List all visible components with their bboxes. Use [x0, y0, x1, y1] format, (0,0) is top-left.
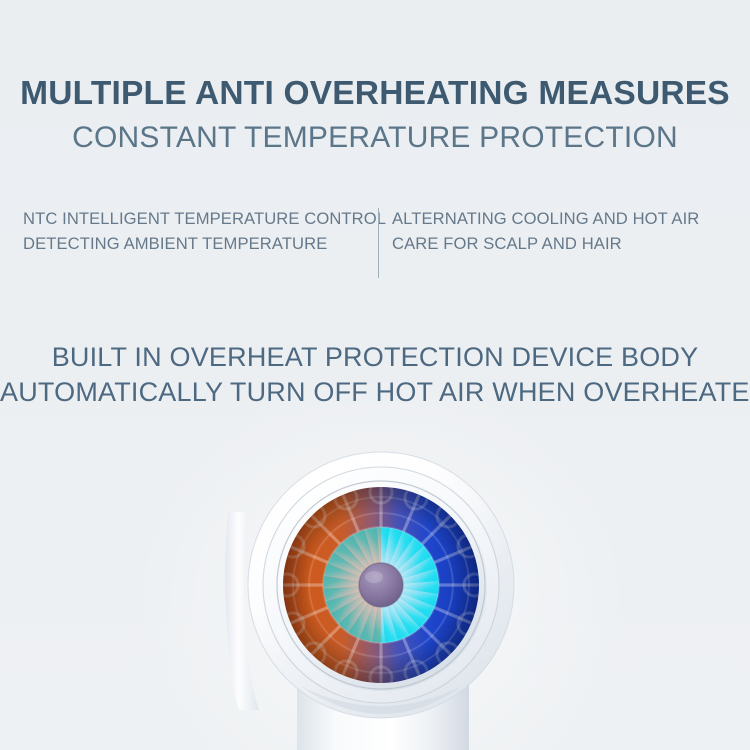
feature-right-line-2: CARE FOR SCALP AND HAIR	[392, 231, 699, 256]
fan-ring-88	[293, 497, 469, 673]
fan-blades-hot-wash	[310, 524, 381, 646]
fan-housing-sheen	[250, 454, 512, 716]
fan-blades	[310, 522, 452, 648]
fan-inner-lip	[275, 479, 487, 691]
feature-column-right: ALTERNATING COOLING AND HOT AIR CARE FOR…	[392, 206, 699, 256]
fan-spokes	[283, 487, 479, 683]
fan-hub	[359, 563, 403, 607]
feature-right-line-1: ALTERNATING COOLING AND HOT AIR	[392, 206, 699, 231]
feature-left-line-2: DETECTING AMBIENT TEMPERATURE	[23, 231, 386, 256]
fan-inner-edge	[323, 527, 439, 643]
feature-column-left: NTC INTELLIGENT TEMPERATURE CONTROL DETE…	[23, 206, 386, 256]
fan-inner-assembly	[310, 522, 452, 648]
feature-left-line-1: NTC INTELLIGENT TEMPERATURE CONTROL	[23, 206, 386, 231]
fan-inner-disc	[323, 527, 439, 643]
fan-ring-72	[309, 513, 453, 657]
fan-inner-lip-edge	[277, 481, 485, 689]
fan-rim-ring	[263, 467, 499, 703]
fan-hub-highlight	[365, 571, 383, 583]
headline-main: MULTIPLE ANTI OVERHEATING MEASURES	[0, 74, 750, 114]
feature-divider	[378, 208, 379, 278]
promo-page: MULTIPLE ANTI OVERHEATING MEASURES CONST…	[0, 0, 750, 750]
dryer-neck	[297, 672, 469, 750]
fan-blades-cold-wash	[381, 524, 452, 646]
subheadline-line-2: AUTOMATICALLY TURN OFF HOT AIR WHEN OVER…	[0, 375, 750, 410]
dryer-handle	[303, 660, 463, 750]
subheadline-line-1: BUILT IN OVERHEAT PROTECTION DEVICE BODY	[0, 340, 750, 375]
fan-housing-outer	[248, 452, 514, 718]
fan-rim-edge	[263, 467, 499, 703]
subheadline-block: BUILT IN OVERHEAT PROTECTION DEVICE BODY…	[0, 340, 750, 410]
fan-hub-edge	[359, 563, 403, 607]
product-glow	[131, 370, 631, 750]
fan-housing-edge	[248, 452, 514, 718]
headline-sub: CONSTANT TEMPERATURE PROTECTION	[0, 120, 750, 155]
fan-disc-detail	[276, 481, 486, 689]
fan-disc-vignette	[283, 487, 479, 683]
fan-scallops	[276, 481, 486, 689]
fan-grille	[276, 481, 486, 689]
headline-block: MULTIPLE ANTI OVERHEATING MEASURES CONST…	[0, 74, 750, 155]
fan-disc	[283, 487, 479, 683]
dryer-side-arm	[225, 512, 259, 710]
housing-contact-shadow	[300, 686, 462, 714]
feature-columns: NTC INTELLIGENT TEMPERATURE CONTROL DETE…	[0, 206, 750, 286]
